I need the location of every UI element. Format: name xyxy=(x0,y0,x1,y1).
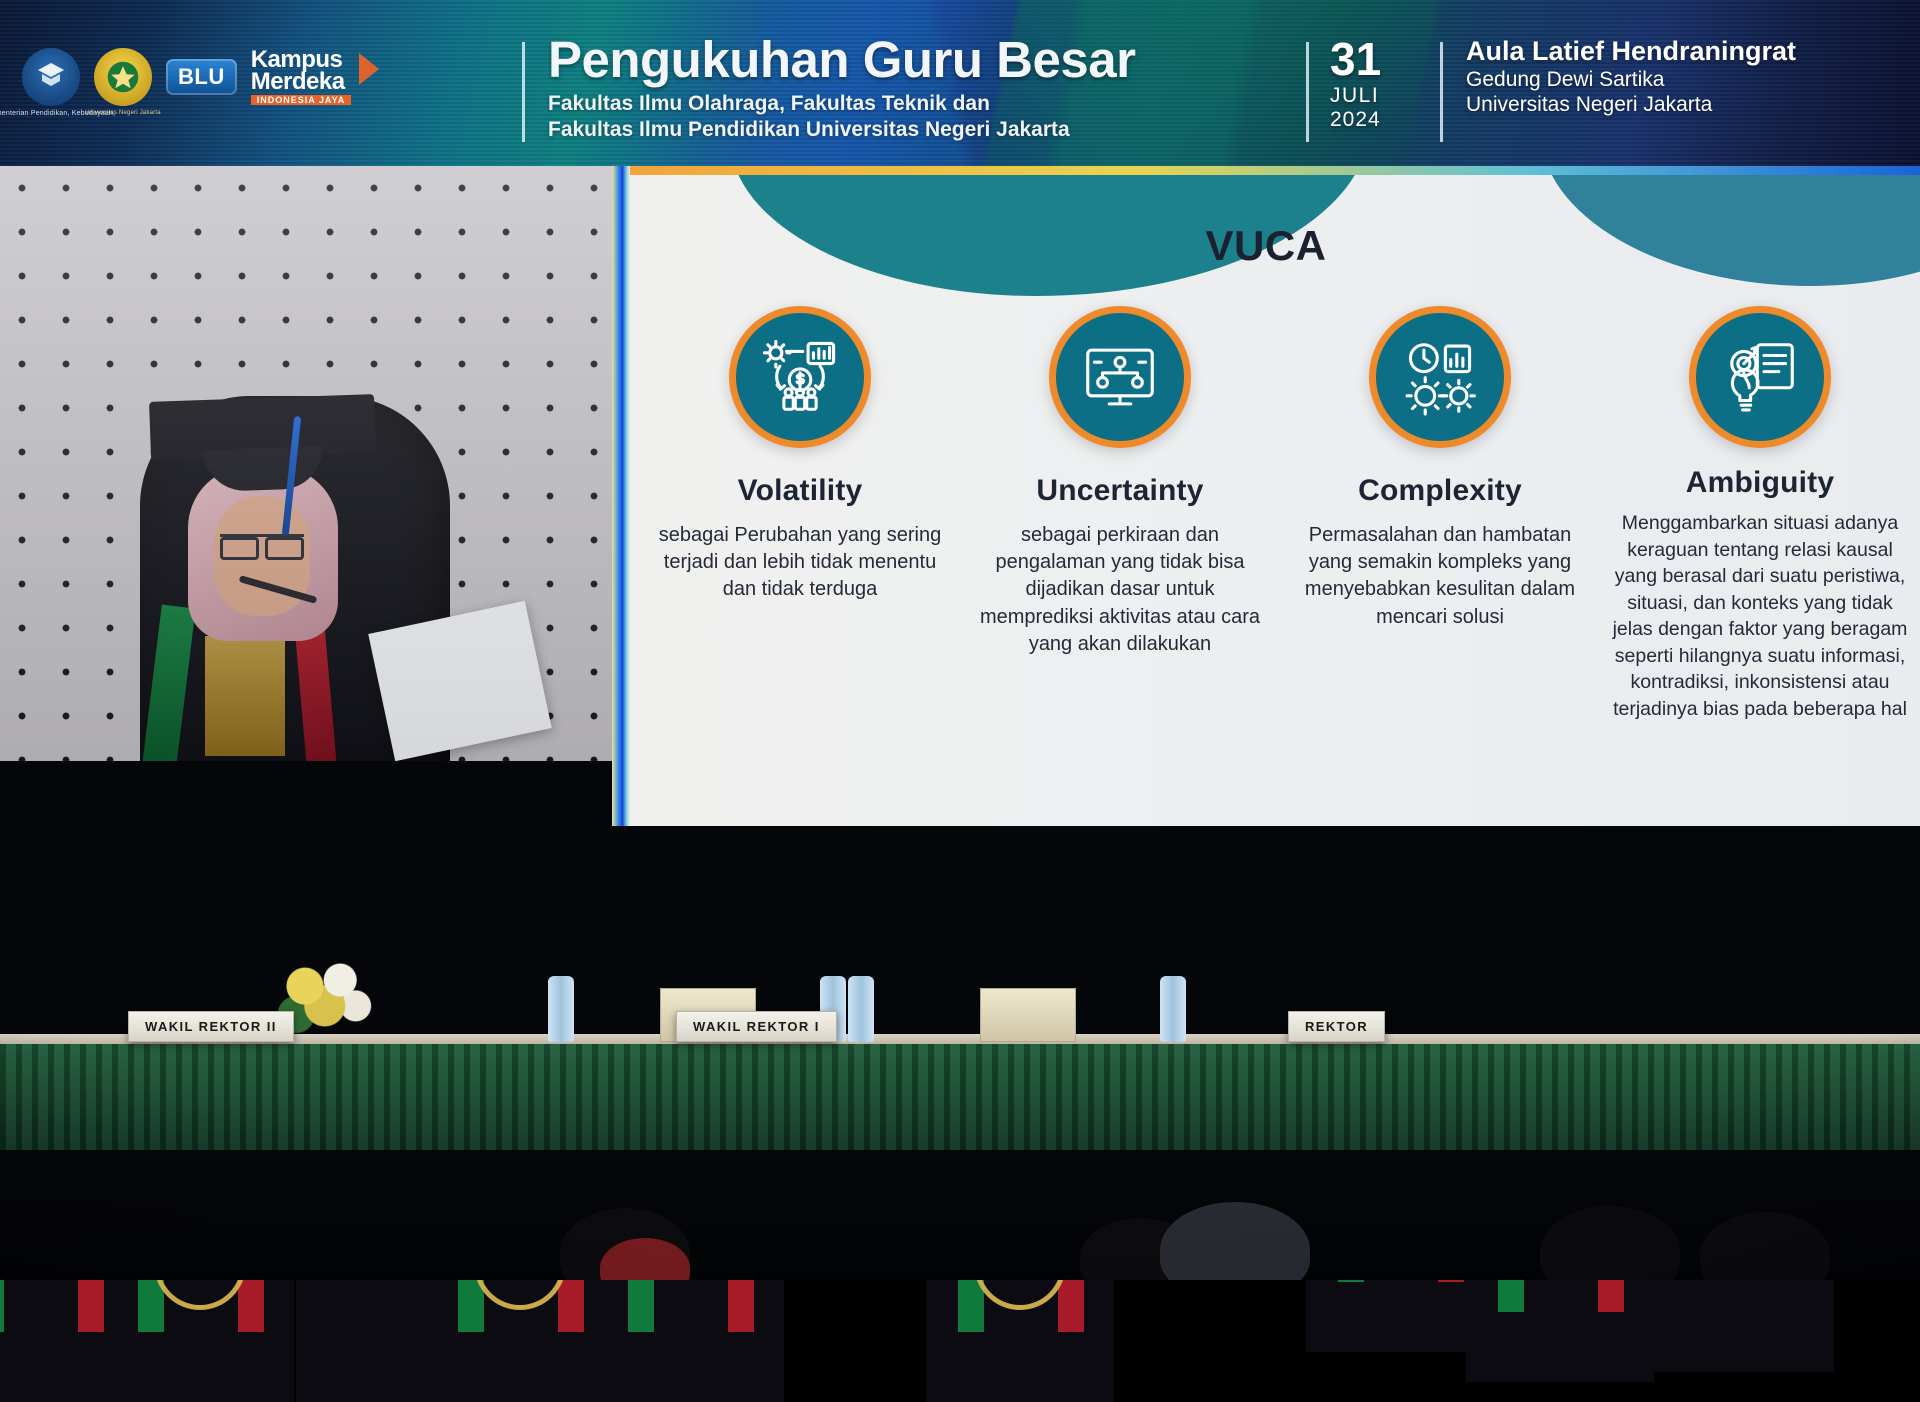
event-date-year: 2024 xyxy=(1330,108,1381,132)
vuca-card-row: Volatility sebagai Perubahan yang sering… xyxy=(640,306,1920,722)
vuca-card-title: Ambiguity xyxy=(1686,466,1834,500)
audience-head xyxy=(1160,1202,1310,1280)
tissue-box xyxy=(980,988,1076,1042)
name-placard: WAKIL REKTOR II xyxy=(128,1011,294,1042)
event-subtitle-line1: Fakultas Ilmu Olahraga, Fakultas Teknik … xyxy=(548,91,1135,117)
name-placard: WAKIL REKTOR I xyxy=(676,1011,837,1042)
vuca-card-title: Uncertainty xyxy=(1036,474,1203,508)
arrow-icon xyxy=(359,53,379,85)
presentation-slide: VUCA xyxy=(612,166,1920,826)
complexity-icon xyxy=(1369,306,1511,448)
event-date-day: 31 xyxy=(1330,38,1381,82)
audience-head xyxy=(1700,1212,1830,1280)
kampus-merdeka-line3: INDONESIA JAYA xyxy=(251,95,352,105)
unj-logo-icon: Universitas Negeri Jakarta xyxy=(94,48,152,106)
unj-logo-caption: Universitas Negeri Jakarta xyxy=(85,110,161,117)
event-date-block: 31 JULI 2024 xyxy=(1330,38,1381,132)
water-bottle-icon xyxy=(1160,976,1186,1042)
vuca-card-ambiguity: Ambiguity Menggambarkan situasi adanya k… xyxy=(1600,306,1920,722)
water-bottle-icon xyxy=(548,976,574,1042)
vuca-card-title: Volatility xyxy=(738,474,863,508)
venue-university-name: Universitas Negeri Jakarta xyxy=(1466,93,1796,118)
event-title: Pengukuhan Guru Besar xyxy=(548,34,1135,85)
live-camera-feed xyxy=(0,166,612,761)
uncertainty-icon xyxy=(1049,306,1191,448)
vuca-card-volatility: Volatility sebagai Perubahan yang sering… xyxy=(640,306,960,722)
ambiguity-icon xyxy=(1689,306,1831,448)
vuca-card-body: sebagai Perubahan yang sering terjadi da… xyxy=(652,522,948,604)
banner-divider-mid xyxy=(1306,42,1309,142)
blu-badge: BLU xyxy=(166,59,237,95)
event-date-month: JULI xyxy=(1330,84,1381,108)
vuca-card-title: Complexity xyxy=(1358,474,1522,508)
audience-head xyxy=(1540,1206,1680,1280)
banner-divider-left xyxy=(522,42,525,142)
audience-row xyxy=(0,1150,1920,1280)
feed-glare-overlay xyxy=(0,166,612,761)
water-bottle-icon xyxy=(848,976,874,1042)
kampus-merdeka-line2: Merdeka xyxy=(251,71,352,93)
head-table-skirt xyxy=(0,1044,1920,1152)
dignitary-panel: WAKIL REKTOR II WAKIL REKTOR I REKTOR xyxy=(0,760,1920,1280)
banner-logo-group: Kementerian Pendidikan, Kebudayaan, Univ… xyxy=(22,48,375,106)
vuca-card-body: sebagai perkiraan dan pengalaman yang ti… xyxy=(972,522,1268,658)
slide-top-accent-bar xyxy=(612,166,1920,175)
banner-divider-right xyxy=(1440,42,1443,142)
vuca-card-body: Menggambarkan situasi adanya keraguan te… xyxy=(1612,510,1908,722)
event-banner: Kementerian Pendidikan, Kebudayaan, Univ… xyxy=(0,0,1920,166)
vuca-card-complexity: Complexity Permasalahan dan hambatan yan… xyxy=(1280,306,1600,722)
venue-hall-name: Aula Latief Hendraningrat xyxy=(1466,36,1796,68)
ceremony-scene: Kementerian Pendidikan, Kebudayaan, Univ… xyxy=(0,0,1920,1280)
name-placard: REKTOR xyxy=(1288,1011,1385,1042)
kemdikbud-logo-icon: Kementerian Pendidikan, Kebudayaan, xyxy=(22,48,80,106)
volatility-icon xyxy=(729,306,871,448)
vuca-card-body: Permasalahan dan hambatan yang semakin k… xyxy=(1292,522,1588,631)
kampus-merdeka-logo: Kampus Merdeka INDONESIA JAYA xyxy=(251,49,376,105)
vuca-card-uncertainty: Uncertainty sebagai perkiraan dan pengal… xyxy=(960,306,1280,722)
banner-title-block: Pengukuhan Guru Besar Fakultas Ilmu Olah… xyxy=(548,34,1135,142)
event-subtitle-line2: Fakultas Ilmu Pendidikan Universitas Neg… xyxy=(548,117,1135,143)
slide-title: VUCA xyxy=(612,222,1920,270)
venue-building-name: Gedung Dewi Sartika xyxy=(1466,68,1796,93)
event-venue-block: Aula Latief Hendraningrat Gedung Dewi Sa… xyxy=(1466,36,1796,117)
